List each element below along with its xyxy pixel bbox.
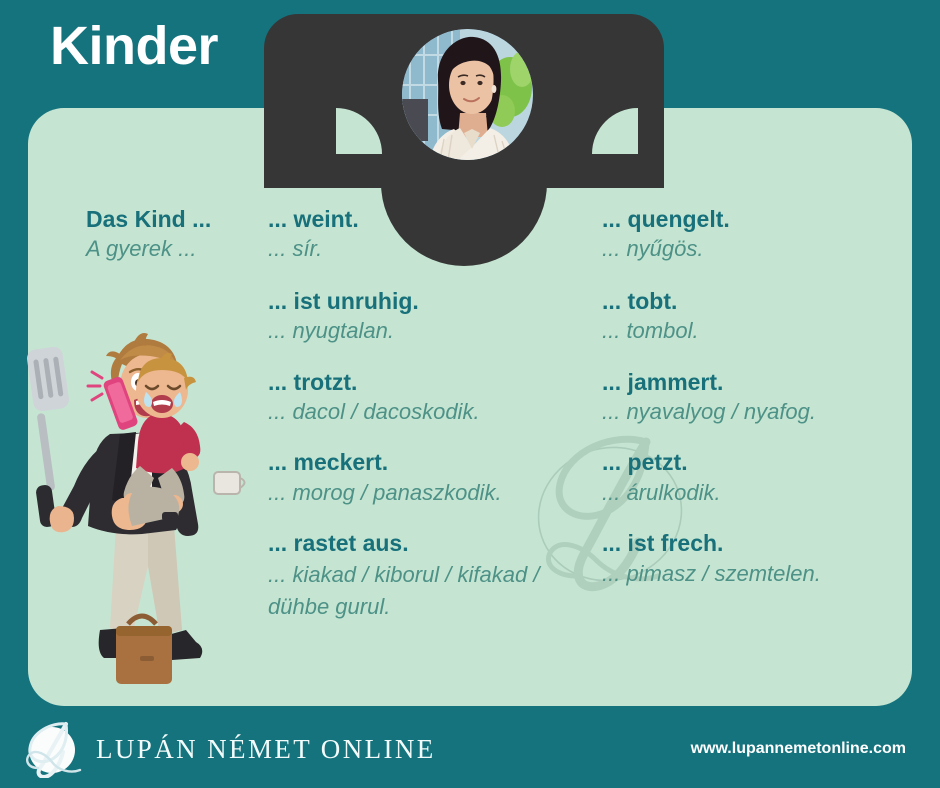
phrase-entry: ... ist frech. ... pimasz / szemtelen. bbox=[602, 528, 914, 588]
poster-canvas: Kinder bbox=[0, 0, 940, 788]
phrase-entry: ... quengelt. ... nyűgös. bbox=[602, 204, 914, 264]
phrase-hu: ... sír. bbox=[268, 234, 598, 263]
website-url[interactable]: www.lupannemetonline.com bbox=[691, 740, 906, 758]
phrase-hu: ... nyűgös. bbox=[602, 234, 914, 263]
lupan-logo-icon bbox=[22, 720, 86, 778]
phrase-entry: ... tobt. ... tombol. bbox=[602, 286, 914, 346]
phrase-hu: ... árulkodik. bbox=[602, 478, 914, 507]
subject-de: Das Kind ... bbox=[86, 204, 251, 234]
phrase-column-middle: ... weint. ... sír. ... ist unruhig. ...… bbox=[268, 204, 598, 643]
footer: LUPÁN NÉMET ONLINE www.lupannemetonline.… bbox=[0, 706, 940, 788]
phrase-de: ... rastet aus. bbox=[268, 528, 598, 558]
phrase-de: ... tobt. bbox=[602, 286, 914, 316]
phrase-hu: ... tombol. bbox=[602, 316, 914, 345]
phrase-entry: ... trotzt. ... dacol / dacoskodik. bbox=[268, 367, 598, 427]
phrase-hu: ... dacol / dacoskodik. bbox=[268, 397, 598, 426]
phrase-hu: ... morog / panaszkodik. bbox=[268, 478, 598, 507]
phrase-entry: ... petzt. ... árulkodik. bbox=[602, 447, 914, 507]
phrase-hu: ... nyugtalan. bbox=[268, 316, 598, 345]
phrase-de: ... meckert. bbox=[268, 447, 598, 477]
card-notch-left bbox=[336, 108, 382, 154]
phrase-entry: ... meckert. ... morog / panaszkodik. bbox=[268, 447, 598, 507]
page-title: Kinder bbox=[50, 17, 218, 76]
phrase-entry: ... jammert. ... nyavalyog / nyafog. bbox=[602, 367, 914, 427]
phrase-hu: ... nyavalyog / nyafog. bbox=[602, 397, 914, 426]
card-notch-right bbox=[592, 108, 638, 154]
phrase-hu: ... pimasz / szemtelen. bbox=[602, 559, 914, 588]
phrase-de: ... trotzt. bbox=[268, 367, 598, 397]
avatar bbox=[402, 29, 533, 160]
illustration-stressed-mother bbox=[24, 330, 256, 702]
phrase-de: ... ist unruhig. bbox=[268, 286, 598, 316]
subject-hu: A gyerek ... bbox=[86, 234, 251, 263]
phrase-entry: ... weint. ... sír. bbox=[268, 204, 598, 264]
phrase-entry: ... rastet aus. ... kiakad / kiborul / k… bbox=[268, 528, 598, 622]
phrase-hu: ... kiakad / kiborul / kifakad / dühbe g… bbox=[268, 559, 598, 623]
subject-column: Das Kind ... A gyerek ... bbox=[86, 204, 251, 284]
phrase-column-right: ... quengelt. ... nyűgös. ... tobt. ... … bbox=[602, 204, 914, 609]
phrase-de: ... quengelt. bbox=[602, 204, 914, 234]
phrase-de: ... ist frech. bbox=[602, 528, 914, 558]
brand-name: LUPÁN NÉMET ONLINE bbox=[96, 734, 436, 765]
phrase-de: ... petzt. bbox=[602, 447, 914, 477]
phrase-entry: ... ist unruhig. ... nyugtalan. bbox=[268, 286, 598, 346]
subject-entry: Das Kind ... A gyerek ... bbox=[86, 204, 251, 264]
phrase-de: ... weint. bbox=[268, 204, 598, 234]
phrase-de: ... jammert. bbox=[602, 367, 914, 397]
